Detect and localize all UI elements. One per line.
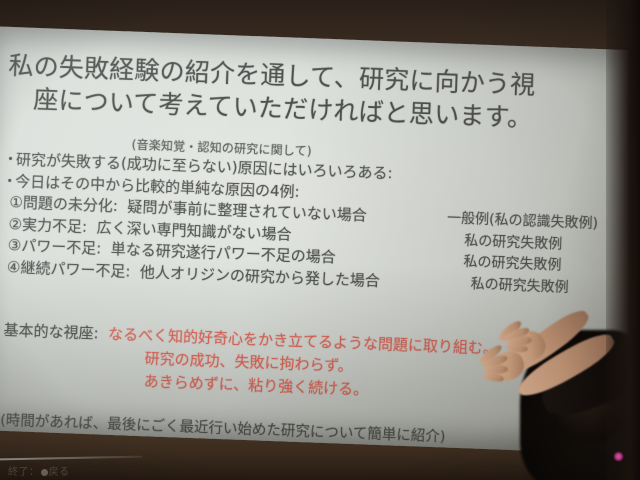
projector-control-strip[interactable]: 終了：戻る: [8, 463, 70, 478]
screen-light-falloff: [0, 26, 640, 455]
projection-screen: 私の失敗経験の紹介を通して、研究に向かう視 座について考えていただければと思いま…: [0, 26, 640, 455]
presentation-photo: 私の失敗経験の紹介を通して、研究に向かう視 座について考えていただければと思いま…: [0, 0, 640, 480]
control-end-label: 終了：: [8, 467, 40, 478]
equipment-indicator-light: [614, 452, 623, 461]
wall-right-margin: [606, 0, 640, 480]
control-dot-icon: [41, 469, 48, 476]
control-back-label[interactable]: 戻る: [49, 467, 70, 478]
